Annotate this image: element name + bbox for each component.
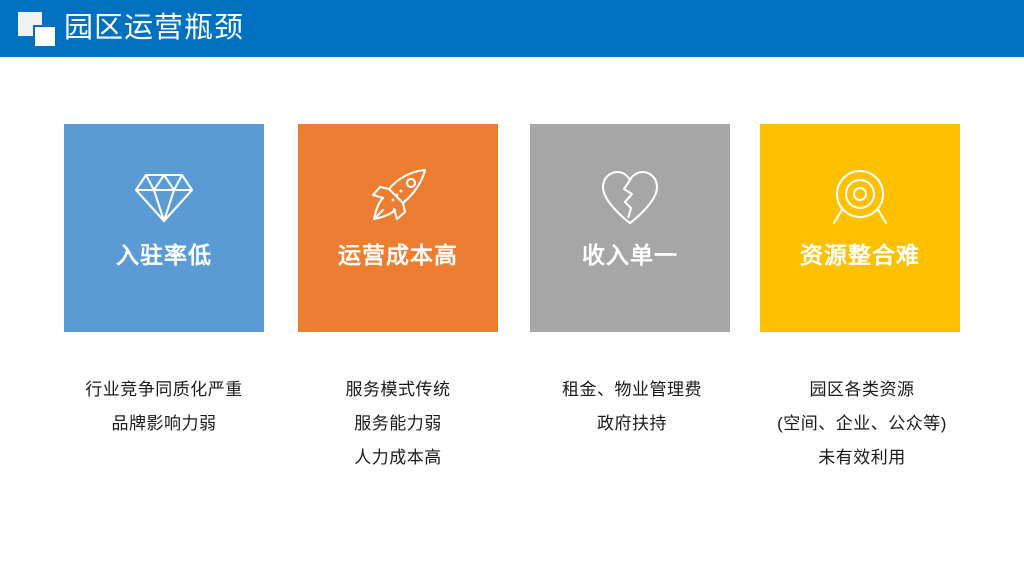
caption-line: 服务模式传统 — [278, 373, 518, 407]
caption-line: (空间、企业、公众等) — [742, 407, 982, 441]
broken-heart-icon — [530, 164, 730, 232]
header-bar: 园区运营瓶颈 — [0, 0, 1024, 57]
card-title: 运营成本高 — [298, 238, 498, 272]
caption-line: 园区各类资源 — [742, 373, 982, 407]
two-squares-logo-icon — [18, 12, 58, 46]
card-occupancy[interactable]: 入驻率低 — [64, 124, 264, 332]
page-title: 园区运营瓶颈 — [64, 7, 244, 50]
card-title: 入驻率低 — [64, 238, 264, 272]
caption-resources: 园区各类资源 (空间、企业、公众等) 未有效利用 — [742, 373, 982, 475]
caption-line: 人力成本高 — [278, 441, 518, 475]
card-operating-cost[interactable]: 运营成本高 — [298, 124, 498, 332]
caption-line: 服务能力弱 — [278, 407, 518, 441]
diamond-icon — [64, 164, 264, 232]
card-title: 收入单一 — [530, 238, 730, 272]
caption-operating-cost: 服务模式传统 服务能力弱 人力成本高 — [278, 373, 518, 475]
card-title: 资源整合难 — [760, 238, 960, 272]
caption-occupancy: 行业竞争同质化严重 品牌影响力弱 — [44, 373, 284, 441]
caption-line: 品牌影响力弱 — [44, 407, 284, 441]
card-revenue[interactable]: 收入单一 — [530, 124, 730, 332]
caption-line: 政府扶持 — [512, 407, 752, 441]
caption-line: 租金、物业管理费 — [512, 373, 752, 407]
caption-line: 未有效利用 — [742, 441, 982, 475]
caption-revenue: 租金、物业管理费 政府扶持 — [512, 373, 752, 441]
card-resources[interactable]: 资源整合难 — [760, 124, 960, 332]
rocket-icon — [298, 164, 498, 232]
captions-row: 行业竞争同质化严重 品牌影响力弱 服务模式传统 服务能力弱 人力成本高 租金、物… — [0, 373, 1024, 503]
caption-line: 行业竞争同质化严重 — [44, 373, 284, 407]
target-icon — [760, 164, 960, 232]
cards-row: 入驻率低 运营成本高 收入单一 — [0, 124, 1024, 332]
logo-square-front — [33, 25, 55, 46]
